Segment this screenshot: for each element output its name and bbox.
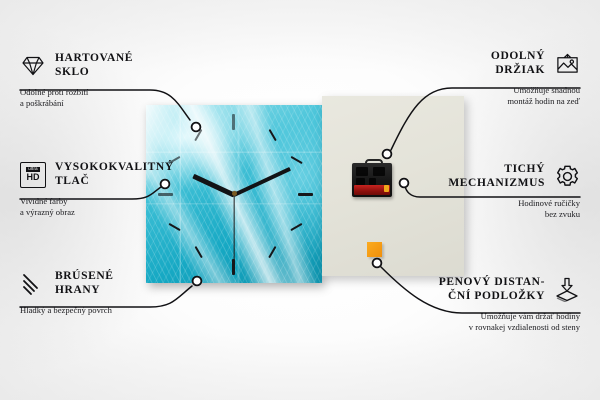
product-infographic: HARTOVANÉSKLO Odolné proti rozbití a poš…: [0, 0, 600, 400]
feature-title: ODOLNÝDRŽIAK: [491, 50, 545, 77]
battery-terminal: [384, 185, 389, 192]
feature-polished-edges: BRÚSENÉHRANY Hladký a bezpečný povrch: [20, 270, 200, 316]
clock-tick-3: [298, 193, 313, 196]
ultra-hd-icon: ultra HD: [20, 162, 46, 188]
feature-description: Umožňuje snadnou montáž hodin na zeď: [400, 81, 580, 107]
battery: [354, 185, 390, 195]
picture-frame-icon: [554, 51, 580, 77]
mechanism-slot-bottom2: [369, 178, 376, 185]
feature-durable-hanger: ODOLNÝDRŽIAK Umožňuje snadnou montáž hod…: [400, 50, 580, 107]
feature-tempered-glass: HARTOVANÉSKLO Odolné proti rozbití a poš…: [20, 52, 190, 109]
feature-heading: ODOLNÝDRŽIAK: [400, 50, 580, 77]
hd-badge: ultra HD: [20, 162, 46, 188]
mechanism-slot-bottom: [356, 178, 365, 185]
feature-title: PENOVÝ DISTAN-ČNÍ PODLOŽKY: [439, 276, 545, 303]
feature-description: Vividné farby a výrazný obraz: [20, 192, 190, 218]
feature-heading: PENOVÝ DISTAN-ČNÍ PODLOŽKY: [360, 276, 580, 303]
mechanism-slot-right: [373, 167, 385, 176]
feature-description: Hodinové ručičky bez zvuku: [390, 194, 580, 220]
quartz-mechanism: [352, 159, 392, 197]
clock-second-hand: [233, 194, 234, 264]
polished-edges-icon: [20, 271, 46, 297]
stack-arrow-icon: [554, 277, 580, 303]
mechanism-slot-left: [356, 167, 368, 176]
feature-title: VYSOKOKVALITNÝTLAČ: [55, 161, 174, 188]
feature-heading: ultra HD VYSOKOKVALITNÝTLAČ: [20, 161, 190, 188]
feature-heading: HARTOVANÉSKLO: [20, 52, 190, 79]
hd-badge-main-label: HD: [27, 173, 40, 182]
feature-description: Umožňuje vám držať hodiny v rovnakej vzd…: [360, 307, 580, 333]
feature-title: TICHÝMECHANIZMUS: [448, 163, 545, 190]
gear-icon: [554, 164, 580, 190]
feature-silent-mechanism: TICHÝMECHANIZMUS Hodinové ručičky bez zv…: [390, 163, 580, 220]
mechanism-body: [352, 163, 392, 197]
feature-description: Hladký a bezpečný povrch: [20, 301, 200, 316]
feature-title: BRÚSENÉHRANY: [55, 270, 114, 297]
feature-heading: BRÚSENÉHRANY: [20, 270, 200, 297]
clock-tick-12: [232, 114, 235, 130]
diamond-icon: [20, 53, 46, 79]
feature-title: HARTOVANÉSKLO: [55, 52, 133, 79]
feature-description: Odolné proti rozbití a poškrábání: [20, 83, 190, 109]
clock-center-pin: [232, 191, 237, 196]
foam-spacer-pad: [367, 242, 382, 257]
feature-heading: TICHÝMECHANIZMUS: [390, 163, 580, 190]
feature-high-quality-print: ultra HD VYSOKOKVALITNÝTLAČ Vividné farb…: [20, 161, 190, 218]
feature-foam-spacers: PENOVÝ DISTAN-ČNÍ PODLOŽKY Umožňuje vám …: [360, 276, 580, 333]
